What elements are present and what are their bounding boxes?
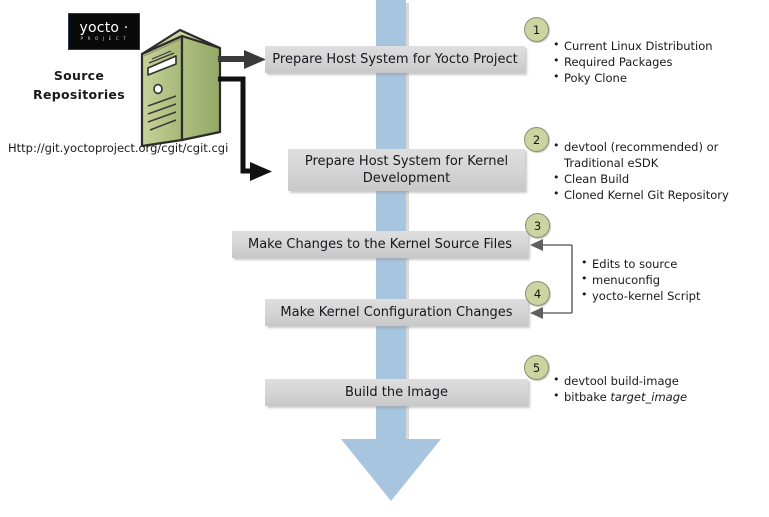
server-icon — [138, 28, 224, 150]
list-item: devtool build-image — [553, 373, 687, 389]
list-item: Cloned Kernel Git Repository — [553, 187, 729, 203]
bullet-list-step-1: Current Linux Distribution Required Pack… — [553, 38, 713, 86]
step-number-4: 4 — [525, 281, 550, 306]
process-box-step-5[interactable]: Build the Image — [265, 379, 528, 406]
list-item: devtool (recommended) or — [553, 139, 729, 155]
diagram-canvas: yocto · P R O J E C T Source Repositorie… — [0, 0, 769, 517]
process-box-step-3[interactable]: Make Changes to the Kernel Source Files — [232, 231, 528, 258]
process-box-step-2[interactable]: Prepare Host System for Kernel Developme… — [288, 149, 525, 191]
bullet-list-steps-3-and-4: Edits to source menuconfig yocto-kernel … — [581, 256, 701, 304]
list-item-continuation: Traditional eSDK — [553, 155, 729, 171]
source-label-line1: Source — [18, 66, 140, 85]
bitbake-target-image-arg: target_image — [610, 390, 687, 404]
bullet-list-step-2: devtool (recommended) or Traditional eSD… — [553, 139, 729, 203]
list-item: Poky Clone — [553, 70, 713, 86]
list-item: menuconfig — [581, 272, 701, 288]
yocto-project-logo: yocto · P R O J E C T — [68, 13, 140, 50]
step-number-2: 2 — [524, 127, 549, 152]
list-item: Edits to source — [581, 256, 701, 272]
logo-subtext: P R O J E C T — [81, 37, 128, 41]
process-box-step-1[interactable]: Prepare Host System for Yocto Project — [265, 46, 525, 73]
list-item: bitbake target_image — [553, 389, 687, 405]
source-repositories-label: Source Repositories — [18, 66, 140, 104]
process-box-step-4[interactable]: Make Kernel Configuration Changes — [265, 299, 528, 326]
list-item: Current Linux Distribution — [553, 38, 713, 54]
process-box-step-2-line2: Development — [305, 170, 508, 187]
process-box-step-2-line1: Prepare Host System for Kernel — [305, 153, 508, 170]
step-number-3: 3 — [525, 213, 550, 238]
list-item: yocto-kernel Script — [581, 288, 701, 304]
list-item: Required Packages — [553, 54, 713, 70]
step-number-1: 1 — [524, 17, 549, 42]
source-label-line2: Repositories — [18, 85, 140, 104]
bullet-list-step-5: devtool build-image bitbake target_image — [553, 373, 687, 405]
logo-wordmark: yocto · — [80, 21, 129, 35]
bitbake-command-prefix: bitbake — [564, 390, 610, 404]
list-item: Clean Build — [553, 171, 729, 187]
flow-down-arrow — [341, 439, 441, 501]
step-number-5: 5 — [524, 355, 549, 380]
